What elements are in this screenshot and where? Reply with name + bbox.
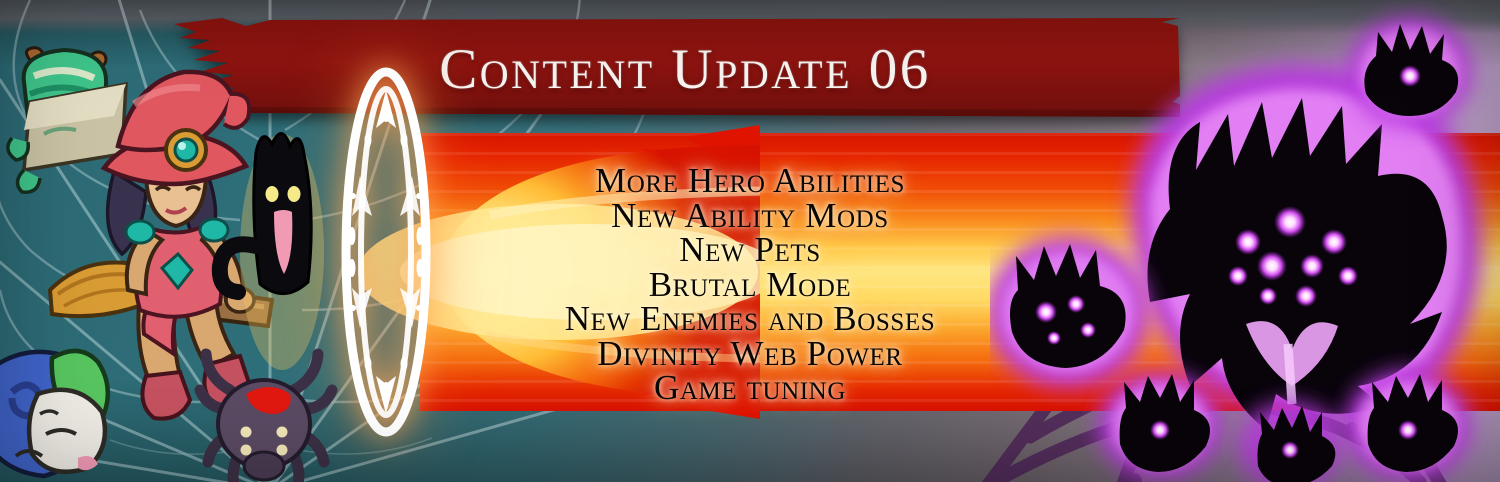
feature-item: New Enemies and Bosses <box>565 302 936 337</box>
left-character-art <box>0 42 344 482</box>
feature-item: More Hero Abilities <box>595 164 905 199</box>
blue-green-pet <box>0 351 108 476</box>
feature-item: Divinity Web Power <box>597 337 902 372</box>
dark-spiderling-bottom-right <box>1344 370 1472 482</box>
feature-item: Game tuning <box>654 371 846 406</box>
feature-item: Brutal Mode <box>649 268 852 303</box>
dark-spiderling-top <box>1348 16 1472 128</box>
magic-portal-ring <box>338 66 434 438</box>
feature-list: More Hero Abilities New Ability Mods New… <box>430 164 1070 406</box>
content-update-banner: Content Update 06 <box>0 0 1500 482</box>
feature-item: New Pets <box>679 233 821 268</box>
dark-spiderling-bottom <box>1098 372 1222 480</box>
feature-item: New Ability Mods <box>611 199 889 234</box>
